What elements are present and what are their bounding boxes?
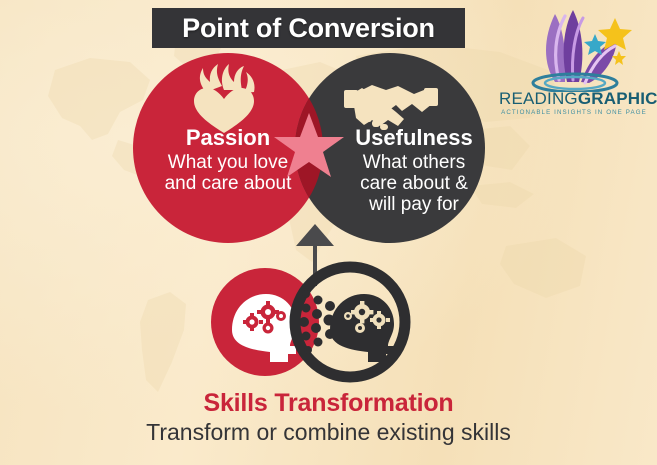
logo-word-part2: GRAPHICS <box>578 89 657 108</box>
open-book-with-stars-icon <box>515 4 633 92</box>
infographic-canvas: Point of Conversion READINGGRAPHICS ACTI… <box>0 0 657 465</box>
page-title: Point of Conversion <box>182 13 435 44</box>
logo-word-part1: READING <box>499 89 578 108</box>
logo-tagline: ACTIONABLE INSIGHTS IN ONE PAGE <box>499 109 649 116</box>
skills-transformation-heading: Skills Transformation <box>0 390 657 418</box>
skills-transformation-caption: Skills Transformation Transform or combi… <box>0 390 657 446</box>
skills-transformation-subheading: Transform or combine existing skills <box>0 419 657 447</box>
page-title-bar: Point of Conversion <box>152 8 465 48</box>
logo-wordmark: READINGGRAPHICS <box>499 90 649 107</box>
brand-logo[interactable]: READINGGRAPHICS ACTIONABLE INSIGHTS IN O… <box>499 4 649 116</box>
